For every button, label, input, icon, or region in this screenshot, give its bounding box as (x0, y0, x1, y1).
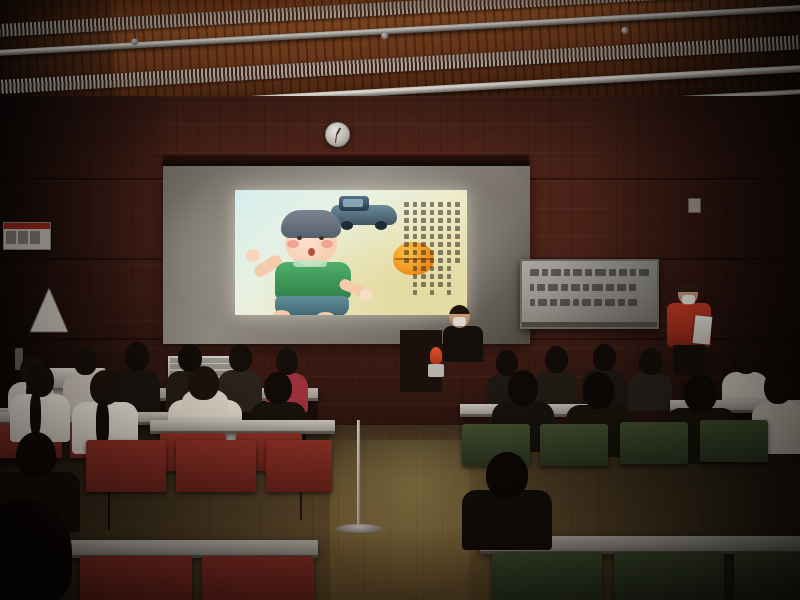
microphone-stand[interactable] (357, 420, 360, 528)
whiteboard (520, 259, 659, 329)
chair[interactable] (176, 440, 256, 492)
picture-book-slide (235, 190, 467, 315)
ceiling-bolt (381, 32, 388, 39)
child-illustration (259, 210, 371, 314)
chair[interactable] (86, 440, 166, 492)
chair[interactable] (614, 552, 724, 600)
chair[interactable] (620, 422, 688, 464)
chair[interactable] (492, 552, 602, 600)
chair[interactable] (80, 556, 192, 600)
student-left (72, 370, 138, 446)
desk-container (428, 364, 444, 377)
wall-notice (3, 222, 51, 250)
face-mask (682, 295, 695, 304)
text-column (430, 198, 435, 310)
student-desk (150, 420, 335, 434)
clock-minute-hand (334, 134, 336, 143)
text-column (438, 198, 443, 310)
vertical-japanese-text (404, 198, 460, 306)
face-mask (453, 317, 466, 326)
whiteboard-shading (522, 261, 657, 327)
whiteboard-marker-tray (522, 322, 657, 327)
wall-clock (325, 122, 350, 147)
text-column (413, 198, 418, 310)
white-cone-object (30, 288, 68, 332)
text-column (447, 198, 452, 310)
text-column (404, 198, 409, 310)
chair[interactable] (202, 556, 314, 600)
presenter-papers (693, 315, 713, 345)
student-left (0, 500, 86, 600)
seated-masked-adult (443, 305, 485, 365)
student-right (462, 452, 552, 544)
chair[interactable] (734, 552, 800, 600)
chair[interactable] (700, 420, 768, 462)
light-switch-plate[interactable] (688, 198, 701, 213)
classroom-photo (0, 0, 800, 600)
chair[interactable] (266, 440, 332, 492)
student-left (10, 364, 70, 436)
text-column (421, 198, 426, 310)
orange-desk-item (430, 347, 442, 364)
standing-presenter (665, 283, 715, 378)
wall-notice-body (4, 229, 50, 246)
text-column (455, 198, 460, 310)
microphone-stand-base (336, 524, 382, 533)
